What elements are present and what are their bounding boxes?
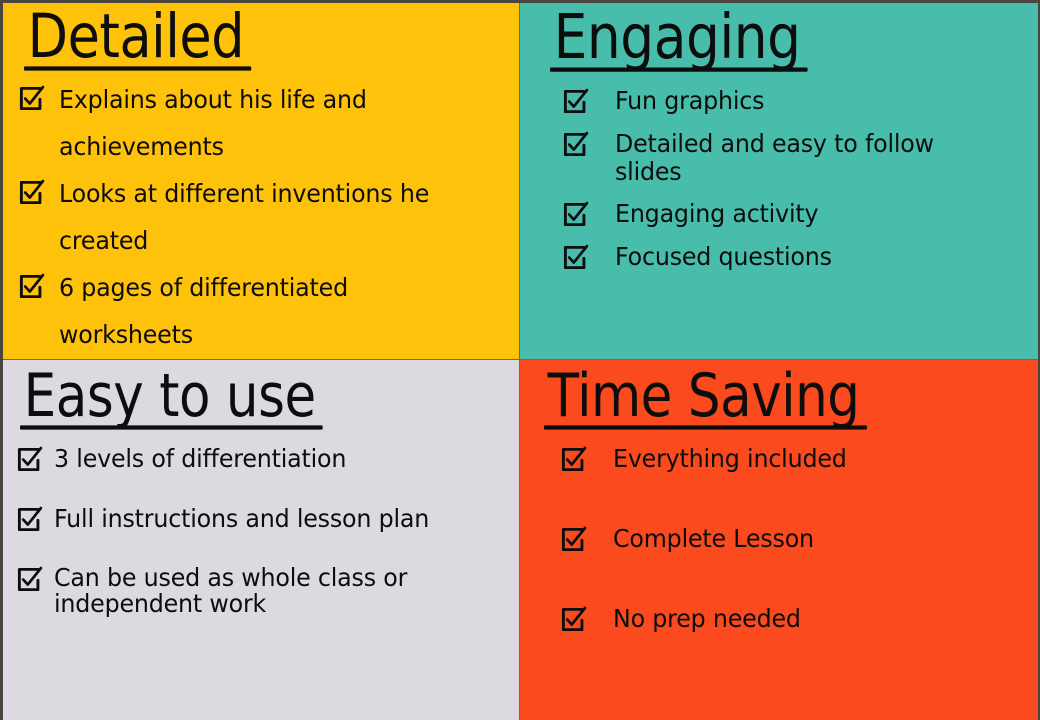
- checkbox-checked-icon: [18, 273, 45, 300]
- list-item-label: Complete Lesson: [613, 525, 814, 553]
- feature-quadrant-board: Detailed Explains about his life and ach…: [0, 0, 1040, 720]
- feature-list-easy-to-use: 3 levels of differentiation Full instruc…: [16, 445, 506, 616]
- list-item: Looks at different inventions he created: [18, 170, 506, 264]
- feature-list-time-saving: Everything included Complete Lesson: [560, 445, 1026, 633]
- checkbox-checked-icon: [18, 85, 45, 112]
- checkbox-checked-icon: [16, 446, 43, 473]
- list-item-label: Engaging activity: [615, 200, 818, 228]
- checkbox-checked-icon: [18, 179, 45, 206]
- list-item: Engaging activity: [562, 200, 1026, 228]
- list-item-label: Can be used as whole class or independen…: [54, 565, 407, 616]
- quadrant-heading-engaging: Engaging: [550, 6, 806, 71]
- list-item-label: Full instructions and lesson plan: [54, 505, 429, 533]
- feature-list-engaging: Fun graphics Detailed and easy to follow…: [562, 87, 1026, 271]
- feature-list-detailed: Explains about his life and achievements…: [18, 76, 506, 358]
- list-item: 6 pages of differentiated worksheets: [18, 264, 506, 358]
- list-item: Explains about his life and achievements: [18, 76, 506, 170]
- list-item: Fun graphics: [562, 87, 1026, 115]
- list-item-label: Fun graphics: [615, 87, 764, 115]
- quadrant-easy-to-use: Easy to use 3 levels of differentiation: [0, 360, 520, 720]
- quadrant-detailed: Detailed Explains about his life and ach…: [0, 0, 520, 360]
- list-item: Everything included: [560, 445, 1026, 473]
- list-item-label: Focused questions: [615, 243, 832, 271]
- list-item-label: 3 levels of differentiation: [54, 445, 346, 473]
- checkbox-checked-icon: [562, 201, 589, 228]
- quadrant-time-saving: Time Saving Everything included: [520, 360, 1040, 720]
- quadrant-heading-easy-to-use: Easy to use: [20, 366, 321, 429]
- list-item: Complete Lesson: [560, 525, 1026, 553]
- list-item: Can be used as whole class or independen…: [16, 565, 506, 616]
- list-item-label: No prep needed: [613, 605, 801, 633]
- checkbox-checked-icon: [562, 131, 589, 158]
- checkbox-checked-icon: [562, 88, 589, 115]
- checkbox-checked-icon: [562, 244, 589, 271]
- list-item-label: 6 pages of differentiated worksheets: [59, 264, 484, 358]
- list-item: Focused questions: [562, 243, 1026, 271]
- list-item: Full instructions and lesson plan: [16, 505, 506, 533]
- list-item: 3 levels of differentiation: [16, 445, 506, 473]
- list-item-label: Everything included: [613, 445, 847, 473]
- quadrant-heading-detailed: Detailed: [24, 6, 250, 70]
- list-item: Detailed and easy to follow slides: [562, 130, 1026, 185]
- quadrant-heading-time-saving: Time Saving: [544, 366, 865, 429]
- list-item-label: Detailed and easy to follow slides: [615, 130, 1005, 185]
- checkbox-checked-icon: [16, 506, 43, 533]
- checkbox-checked-icon: [560, 446, 587, 473]
- quadrant-engaging: Engaging Fun graphics Deta: [520, 0, 1040, 360]
- list-item-label: Explains about his life and achievements: [59, 76, 367, 170]
- checkbox-checked-icon: [560, 526, 587, 553]
- checkbox-checked-icon: [16, 566, 43, 593]
- checkbox-checked-icon: [560, 606, 587, 633]
- list-item: No prep needed: [560, 605, 1026, 633]
- list-item-label: Looks at different inventions he created: [59, 170, 429, 264]
